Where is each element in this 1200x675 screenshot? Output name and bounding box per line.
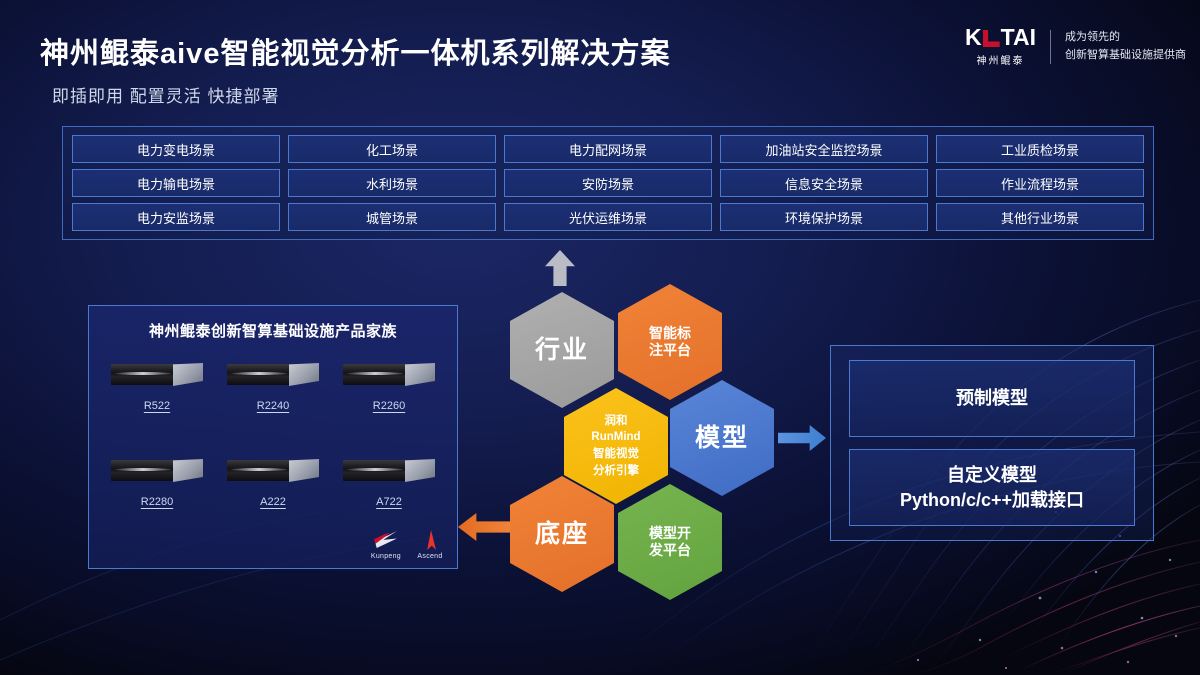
- product-label: A222: [260, 496, 286, 508]
- ascend-icon: [417, 529, 443, 551]
- slide-header: 神州鲲泰aive智能视觉分析一体机系列解决方案 即插即用 配置灵活 快捷部署 K…: [0, 0, 1200, 120]
- product-label: R2260: [373, 400, 405, 412]
- brand-tagline-line1: 成为领先的: [1065, 29, 1186, 46]
- custom-model-box[interactable]: 自定义模型 Python/c/c++加载接口: [849, 449, 1135, 526]
- server-icon: [343, 458, 435, 484]
- product-item[interactable]: R522: [99, 354, 215, 450]
- hexagon-model[interactable]: 模型: [670, 380, 774, 496]
- hexagon-base-label: 底座: [535, 519, 589, 549]
- product-label: A722: [376, 496, 402, 508]
- slide-canvas: 神州鲲泰aive智能视觉分析一体机系列解决方案 即插即用 配置灵活 快捷部署 K…: [0, 0, 1200, 675]
- custom-model-line1: 自定义模型: [947, 463, 1037, 487]
- scenario-tag[interactable]: 环境保护场景: [720, 203, 928, 231]
- product-family-title: 神州鲲泰创新智算基础设施产品家族: [89, 320, 457, 341]
- hexagon-industry-label: 行业: [535, 335, 589, 365]
- preset-model-box[interactable]: 预制模型: [849, 360, 1135, 437]
- brand-wordmark: K TAI: [965, 26, 1036, 49]
- hexagon-annotation-line1: 智能标: [649, 325, 691, 342]
- scenario-tag[interactable]: 工业质检场景: [936, 135, 1144, 163]
- server-icon: [343, 362, 435, 388]
- product-item[interactable]: R2280: [99, 450, 215, 546]
- model-panel: 预制模型 自定义模型 Python/c/c++加载接口: [830, 345, 1154, 541]
- hexagon-engine-line2: RunMind: [591, 429, 640, 446]
- scenario-tag[interactable]: 电力输电场景: [72, 169, 280, 197]
- hexagon-annotation-line2: 注平台: [649, 342, 691, 359]
- kunpeng-logo: Kunpeng: [371, 529, 401, 560]
- kunpeng-icon: [373, 529, 399, 551]
- brand-tagline-line2: 创新智算基础设施提供商: [1065, 47, 1186, 64]
- product-grid: R522 R2240 R2260 R2280 A222 A722: [99, 354, 447, 546]
- hexagon-dev-line1: 模型开: [649, 525, 691, 542]
- scenario-tag[interactable]: 电力配网场景: [504, 135, 712, 163]
- server-icon: [227, 362, 319, 388]
- page-subtitle: 即插即用 配置灵活 快捷部署: [52, 82, 279, 107]
- scenario-tag[interactable]: 加油站安全监控场景: [720, 135, 928, 163]
- brand-chinese-name: 神州鲲泰: [977, 52, 1025, 67]
- brand-tagline: 成为领先的 创新智算基础设施提供商: [1065, 29, 1186, 63]
- scenario-tag[interactable]: 电力变电场景: [72, 135, 280, 163]
- custom-model-line2: Python/c/c++加载接口: [900, 488, 1084, 512]
- scenario-tag[interactable]: 作业流程场景: [936, 169, 1144, 197]
- kunpeng-label: Kunpeng: [371, 553, 401, 560]
- brand-wordmark-left: K: [965, 26, 982, 49]
- server-icon: [227, 458, 319, 484]
- brand-wordmark-right: TAI: [1001, 26, 1036, 49]
- server-icon: [111, 458, 203, 484]
- product-item[interactable]: R2260: [331, 354, 447, 450]
- vendor-logos: Kunpeng Ascend: [371, 529, 443, 560]
- hexagon-dev-platform[interactable]: 模型开 发平台: [618, 484, 722, 600]
- hexagon-annotation-platform[interactable]: 智能标 注平台: [618, 284, 722, 400]
- brand-divider: [1050, 30, 1051, 64]
- server-icon: [111, 362, 203, 388]
- page-title: 神州鲲泰aive智能视觉分析一体机系列解决方案: [40, 30, 670, 72]
- hexagon-engine-line3: 智能视觉: [593, 446, 639, 463]
- product-label: R2240: [257, 400, 289, 412]
- brand-logo-mark: K TAI 神州鲲泰: [965, 26, 1036, 67]
- brand-logo: K TAI 神州鲲泰 成为领先的 创新智算基础设施提供商: [965, 26, 1186, 67]
- scenario-tag[interactable]: 电力安监场景: [72, 203, 280, 231]
- scenario-tag[interactable]: 水利场景: [288, 169, 496, 197]
- scenario-tag[interactable]: 光伏运维场景: [504, 203, 712, 231]
- ascend-label: Ascend: [417, 553, 442, 560]
- scenario-panel: 电力变电场景 化工场景 电力配网场景 加油站安全监控场景 工业质检场景 电力输电…: [62, 126, 1154, 240]
- scenario-tag[interactable]: 安防场景: [504, 169, 712, 197]
- hexagon-model-label: 模型: [695, 423, 749, 453]
- preset-model-label: 预制模型: [956, 386, 1028, 410]
- scenario-tag[interactable]: 化工场景: [288, 135, 496, 163]
- scenario-tag[interactable]: 城管场景: [288, 203, 496, 231]
- hexagon-dev-line2: 发平台: [649, 542, 691, 559]
- scenario-tag[interactable]: 信息安全场景: [720, 169, 928, 197]
- scenario-tag[interactable]: 其他行业场景: [936, 203, 1144, 231]
- product-item[interactable]: A222: [215, 450, 331, 546]
- hexagon-engine-line4: 分析引擎: [593, 463, 639, 480]
- hexagon-engine-line1: 润和: [605, 413, 628, 430]
- hexagon-cluster: 行业 智能标 注平台 润和 RunMind 智能视觉 分析引擎 模型 底座 模型…: [500, 280, 820, 590]
- kuntai-swoosh-icon: [983, 30, 1000, 47]
- ascend-logo: Ascend: [417, 529, 443, 560]
- product-label: R522: [144, 400, 170, 412]
- product-family-panel: 神州鲲泰创新智算基础设施产品家族 R522 R2240 R2260 R2280 …: [88, 305, 458, 569]
- hexagon-industry[interactable]: 行业: [510, 292, 614, 408]
- product-label: R2280: [141, 496, 173, 508]
- product-item[interactable]: R2240: [215, 354, 331, 450]
